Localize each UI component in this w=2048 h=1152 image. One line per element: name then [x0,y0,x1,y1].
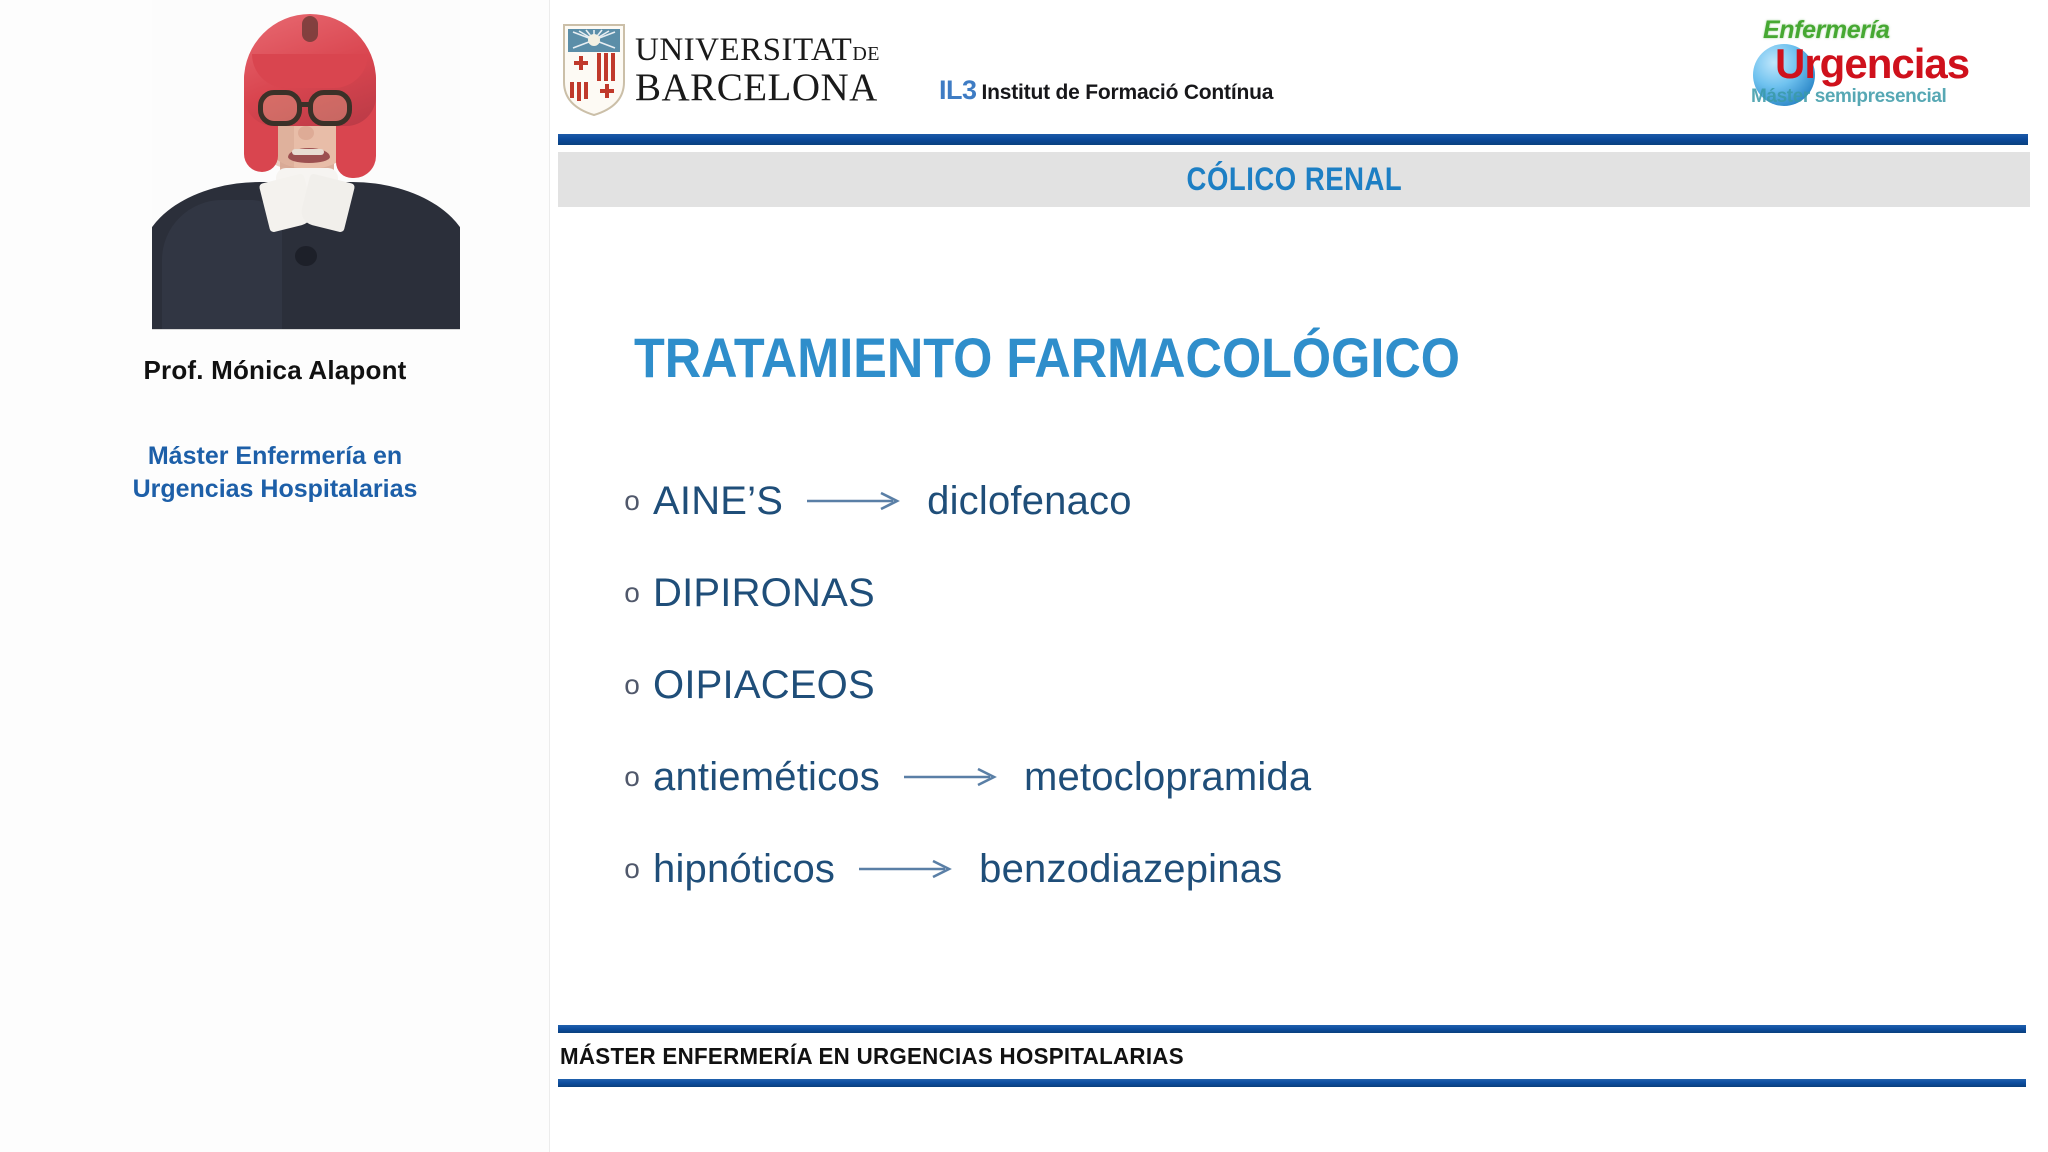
presenter-program-line-2: Urgencias Hospitalarias [0,473,550,506]
ub-wordmark: UNIVERSITATDE BARCELONA [635,34,880,107]
ub-shield-icon [561,22,627,118]
glasses-bridge-icon [301,102,311,107]
list-item: o AINE’S diclofenaco [611,455,1991,547]
list-item-target: benzodiazepinas [979,847,1282,892]
footer-rule-bottom [558,1079,2026,1087]
presenter-torso-shading [162,200,282,330]
arrow-right-icon [805,490,905,512]
list-item-term: OIPIACEOS [653,663,875,708]
list-item-term: hipnóticos [653,847,835,892]
footer-text: MÁSTER ENFERMERÍA EN URGENCIAS HOSPITALA… [560,1043,1184,1070]
universitat-barcelona-logo: UNIVERSITATDE BARCELONA [561,18,881,128]
title-divider-rule [558,134,2028,145]
ub-de-text: DE [852,43,880,65]
presenter-hair-part [302,16,318,42]
bullet-marker-icon: o [611,669,653,701]
list-item-term: AINE’S [653,479,783,524]
presenter-panel: Prof. Mónica Alapont Máster Enfermería e… [0,0,550,1152]
presenter-name: Prof. Mónica Alapont [0,355,550,386]
arrow-right-icon [902,766,1002,788]
presenter-program-line-1: Máster Enfermería en [0,440,550,473]
bullet-marker-icon: o [611,485,653,517]
bullet-marker-icon: o [611,761,653,793]
treatment-bullet-list: o AINE’S diclofenaco o DIPIRONAS o OIPIA… [611,455,1991,915]
presenter-video[interactable] [152,0,460,330]
ub-barcelona-text: BARCELONA [635,68,880,108]
glasses-right-lens-icon [308,90,352,126]
presenter-nose [298,126,314,140]
footer-rule-top [558,1025,2026,1033]
slide-panel: UNIVERSITATDE BARCELONA IL3Institut de F… [551,0,2048,1152]
il3-mark-text: IL3 [939,75,977,105]
list-item-term: DIPIRONAS [653,571,875,616]
list-item: o DIPIRONAS [611,547,1991,639]
arrow-right-icon [857,858,957,880]
list-item-term: antieméticos [653,755,880,800]
presenter-program: Máster Enfermería en Urgencias Hospitala… [0,440,550,506]
list-item-target: diclofenaco [927,479,1132,524]
bullet-marker-icon: o [611,577,653,609]
slide-heading: TRATAMIENTO FARMACOLÓGICO [634,325,1460,390]
logo-master-semipresencial-text: Máster semipresencial [1751,86,1946,108]
list-item-target: metoclopramida [1024,755,1311,800]
ub-wordmark-line-1: UNIVERSITATDE [635,34,880,68]
slide-title: CÓLICO RENAL [1186,161,1402,198]
glasses-left-lens-icon [258,90,302,126]
list-item: o antieméticos metoclopramida [611,731,1991,823]
logo-urgencias-text: Urgencias [1775,40,1969,88]
presenter-teeth [292,149,324,155]
ub-universitat-text: UNIVERSITAT [635,32,852,68]
presenter-button [295,246,317,266]
screen-root: Prof. Mónica Alapont Máster Enfermería e… [0,0,2048,1152]
il3-logo: IL3Institut de Formació Contínua [939,75,1273,106]
bullet-marker-icon: o [611,853,653,885]
presenter-bangs [252,54,368,88]
list-item: o OIPIACEOS [611,639,1991,731]
list-item: o hipnóticos benzodiazepinas [611,823,1991,915]
il3-institut-text: Institut de Formació Contínua [982,81,1274,104]
enfermeria-urgencias-logo: Enfermería Urgencias Máster semipresenci… [1739,16,1989,112]
title-band: CÓLICO RENAL [558,152,2030,207]
